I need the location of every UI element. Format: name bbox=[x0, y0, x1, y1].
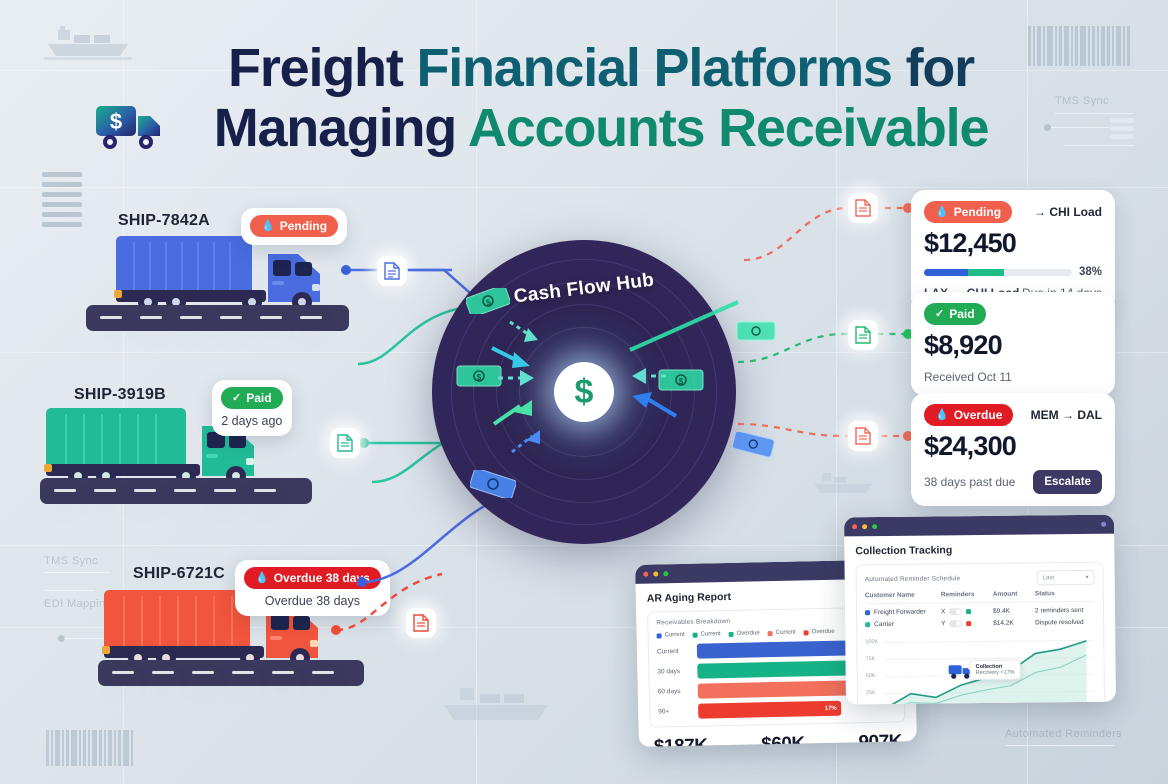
legend-item: Overdue bbox=[804, 629, 835, 636]
decorative-bars bbox=[42, 172, 82, 227]
document-icon-chip-red-right[interactable] bbox=[848, 193, 878, 223]
chart-tooltip: Collection Recovery +17% bbox=[970, 660, 1021, 681]
stat-block: $60K Outstanding bbox=[761, 733, 805, 746]
document-icon bbox=[855, 199, 871, 217]
status-badge-overdue: 💧 Overdue bbox=[924, 404, 1013, 426]
watermark-dot bbox=[1044, 124, 1051, 131]
title-part-5: Accounts Receivable bbox=[468, 98, 988, 158]
svg-text:$: $ bbox=[477, 373, 482, 382]
money-bill-icon-blue bbox=[732, 432, 774, 458]
watermark-rule bbox=[1005, 745, 1115, 746]
document-icon bbox=[337, 434, 353, 452]
connector-line-red-right bbox=[742, 198, 922, 268]
status-badge-paid: ✓ Paid bbox=[221, 387, 283, 409]
shipment-id-label: SHIP-6721C bbox=[133, 565, 225, 583]
cargo-ship-silhouette-icon bbox=[806, 468, 880, 502]
document-icon bbox=[855, 427, 871, 445]
aging-stats: $187K Total AR $60K Outstanding 907K Tot… bbox=[650, 731, 907, 747]
barcode-decoration bbox=[46, 730, 133, 766]
flame-icon: 💧 bbox=[261, 221, 275, 232]
legend-item: Current bbox=[693, 631, 721, 638]
progress-track bbox=[924, 269, 1072, 276]
status-badge-pending: 💧 Pending bbox=[250, 215, 338, 237]
status-badge-label: Overdue bbox=[954, 408, 1003, 422]
panel-subtitle: Automated Reminder Schedule bbox=[865, 575, 961, 583]
status-chip-subtext: 2 days ago bbox=[221, 414, 283, 428]
receivable-card-paid[interactable]: ✓ Paid $8,920 Received Oct 11 bbox=[911, 292, 1115, 396]
range-select[interactable]: Last ▾ bbox=[1037, 570, 1095, 586]
shipment-status-chip-1[interactable]: 💧 Pending bbox=[241, 208, 347, 245]
collection-tracking-dashboard[interactable]: Collection Tracking Automated Reminder S… bbox=[844, 515, 1116, 705]
flow-arrow-icon bbox=[508, 316, 544, 346]
watermark-rule bbox=[44, 590, 94, 591]
status-chip-subtext: Overdue 38 days bbox=[244, 594, 381, 608]
document-icon-chip-red-right-2[interactable] bbox=[848, 421, 878, 451]
road-strip bbox=[86, 305, 349, 331]
flow-arrow-icon bbox=[632, 366, 668, 386]
flame-icon: 💧 bbox=[935, 410, 949, 421]
road-strip bbox=[40, 478, 312, 504]
card-progress: 38% bbox=[924, 266, 1102, 278]
row-color-swatch bbox=[865, 610, 870, 615]
page-title: Freight Financial Platforms for Managing… bbox=[186, 38, 1016, 159]
shipment-status-chip-3[interactable]: 💧 Overdue 38 days Overdue 38 days bbox=[235, 560, 390, 616]
window-extra-dot[interactable] bbox=[1101, 522, 1106, 527]
watermark-rule bbox=[1051, 127, 1109, 128]
check-icon: ✓ bbox=[935, 309, 944, 320]
flow-arrow-icon bbox=[498, 368, 538, 388]
flame-icon: 💧 bbox=[935, 207, 949, 218]
document-icon bbox=[855, 326, 871, 344]
flow-arrow-icon bbox=[492, 394, 538, 428]
money-bill-icon: $ bbox=[466, 288, 510, 314]
window-maximize-dot[interactable] bbox=[872, 524, 877, 529]
document-icon bbox=[413, 614, 429, 632]
row-toggle[interactable] bbox=[949, 608, 962, 615]
title-part-4: Managing bbox=[214, 98, 468, 158]
flow-arrow-icon bbox=[490, 344, 536, 370]
shipment-id-label: SHIP-3919B bbox=[74, 386, 166, 404]
progress-percent: 38% bbox=[1079, 266, 1102, 278]
dashboard-title: Collection Tracking bbox=[855, 543, 1103, 558]
bg-grid-line bbox=[0, 187, 1168, 188]
row-color-swatch bbox=[865, 622, 870, 627]
watermark-block bbox=[1110, 134, 1134, 139]
infographic-canvas: TMS Sync TMS Sync EDI Mapping Automated … bbox=[0, 0, 1168, 784]
hub-core-dollar: $ bbox=[554, 362, 614, 422]
title-part-3: for bbox=[892, 38, 974, 98]
card-route-label: → CHI Load bbox=[1034, 205, 1102, 219]
status-badge-overdue: 💧 Overdue 38 days bbox=[244, 567, 381, 589]
road-strip bbox=[98, 660, 364, 686]
flow-arrow-icon bbox=[624, 386, 678, 420]
watermark-text: TMS Sync bbox=[44, 555, 98, 567]
card-amount: $8,920 bbox=[924, 332, 1102, 359]
bar-fill: 17% bbox=[698, 701, 841, 719]
cargo-ship-silhouette-icon bbox=[36, 24, 138, 64]
progress-fill-green bbox=[968, 269, 1004, 276]
collection-chart: 100K 75K 50K 25K 0 Jan bbox=[865, 637, 1096, 705]
status-badge-label: Pending bbox=[954, 205, 1001, 219]
shipment-status-chip-2[interactable]: ✓ Paid 2 days ago bbox=[212, 380, 292, 436]
document-icon-chip-blue[interactable] bbox=[377, 256, 407, 286]
watermark-block bbox=[1110, 118, 1134, 123]
shipment-id-label: SHIP-7842A bbox=[118, 212, 210, 230]
document-icon bbox=[384, 262, 400, 280]
window-minimize-dot[interactable] bbox=[653, 571, 658, 576]
collection-panel: Automated Reminder Schedule Last ▾ Custo… bbox=[856, 562, 1106, 705]
money-bill-icon bbox=[736, 320, 776, 344]
stat-block: 907K Total AR bbox=[858, 731, 902, 747]
card-amount: $24,300 bbox=[924, 433, 1102, 460]
title-part-1: Freight bbox=[228, 38, 416, 98]
card-amount: $12,450 bbox=[924, 230, 1102, 257]
document-icon-chip-teal[interactable] bbox=[330, 428, 360, 458]
title-part-2: Financial Platforms bbox=[416, 38, 891, 98]
status-badge-label: Pending bbox=[280, 219, 327, 233]
watermark-rule bbox=[1055, 113, 1133, 114]
card-foot-left: 38 days past due bbox=[924, 475, 1015, 489]
watermark-text: Automated Reminders bbox=[1005, 728, 1122, 740]
document-icon-chip-green-right[interactable] bbox=[848, 320, 878, 350]
barcode-decoration bbox=[1028, 26, 1130, 66]
legend-item: Current bbox=[768, 630, 796, 637]
card-foot-left: Received Oct 11 bbox=[924, 370, 1012, 384]
money-bill-icon-blue bbox=[470, 470, 516, 498]
svg-text:$: $ bbox=[110, 109, 122, 134]
receivable-card-overdue[interactable]: 💧 Overdue MEM → DAL $24,300 38 days past… bbox=[911, 393, 1115, 506]
legend-item: Overdue bbox=[729, 630, 760, 637]
document-icon-chip-red[interactable] bbox=[406, 608, 436, 638]
status-badge-label: Overdue 38 days bbox=[274, 571, 370, 585]
window-minimize-dot[interactable] bbox=[862, 524, 867, 529]
status-badge-label: Paid bbox=[949, 307, 974, 321]
window-maximize-dot[interactable] bbox=[663, 571, 668, 576]
watermark-block bbox=[1110, 126, 1134, 131]
chevron-down-icon: ▾ bbox=[1086, 574, 1089, 581]
cargo-ship-silhouette-icon bbox=[430, 680, 562, 732]
status-badge-paid: ✓ Paid bbox=[924, 303, 986, 325]
watermark-text: TMS Sync bbox=[1055, 95, 1109, 107]
status-badge-label: Paid bbox=[246, 391, 271, 405]
check-icon: ✓ bbox=[232, 393, 241, 404]
stat-block: $187K Total AR bbox=[654, 735, 708, 746]
freight-dollar-truck-logo-icon: $ bbox=[94, 98, 168, 154]
cash-flow-hub: Cash Flow Hub $ $ $ $ bbox=[432, 240, 736, 544]
row-toggle[interactable] bbox=[949, 620, 962, 627]
table-row[interactable]: Carrier Y $14.2K Dispute resolved bbox=[865, 619, 1095, 633]
flame-icon: 💧 bbox=[255, 573, 269, 584]
flow-beam bbox=[620, 298, 740, 358]
status-badge-pending: 💧 Pending bbox=[924, 201, 1012, 223]
watermark-rule bbox=[1064, 145, 1134, 146]
window-close-dot[interactable] bbox=[643, 572, 648, 577]
progress-fill-blue bbox=[924, 269, 968, 276]
window-close-dot[interactable] bbox=[852, 524, 857, 529]
escalate-button[interactable]: Escalate bbox=[1033, 470, 1102, 494]
flow-arrow-icon bbox=[510, 426, 546, 456]
card-route-label: MEM → DAL bbox=[1031, 408, 1102, 422]
legend-item: Current bbox=[657, 632, 685, 639]
svg-text:$: $ bbox=[679, 377, 684, 386]
watermark-rule bbox=[44, 572, 110, 573]
